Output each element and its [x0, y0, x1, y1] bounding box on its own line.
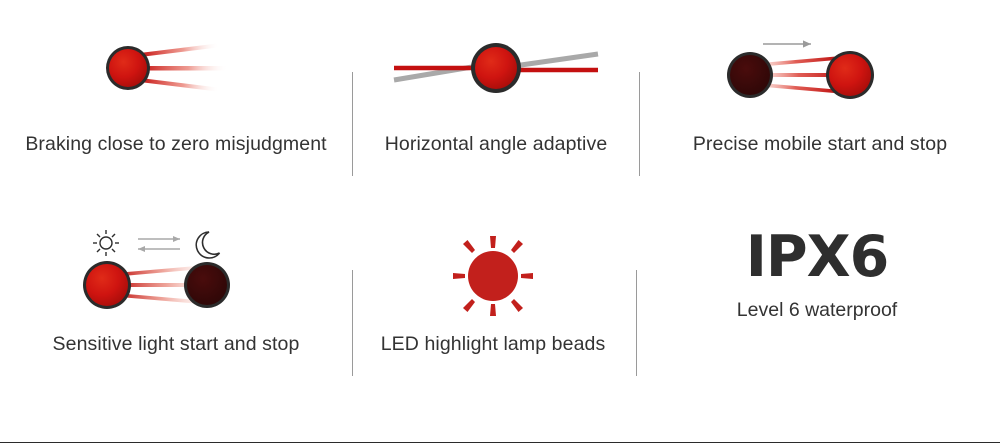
feature-card-mobile: Precise mobile start and stop — [640, 28, 1000, 188]
divider-row1-left — [352, 72, 353, 176]
day-night-sensor-icon — [0, 226, 352, 322]
divider-row2-right — [636, 270, 637, 376]
feature-card-led: LED highlight lamp beads — [352, 226, 634, 391]
feature-infographic: Braking close to zero misjudgment — [0, 0, 1000, 443]
feature-caption: Braking close to zero misjudgment — [25, 132, 326, 156]
feature-card-braking: Braking close to zero misjudgment — [0, 28, 352, 188]
divider-row1-right — [639, 72, 640, 176]
moon-icon — [196, 232, 219, 258]
feature-caption: LED highlight lamp beads — [381, 332, 606, 356]
sun-icon — [93, 230, 119, 256]
arrow-right-icon — [763, 40, 811, 47]
feature-caption: Level 6 waterproof — [737, 299, 897, 322]
exchange-arrows-icon — [138, 236, 180, 252]
divider-row2-left — [352, 270, 353, 376]
led-sun-burst-icon — [352, 226, 634, 322]
feature-caption: Horizontal angle adaptive — [385, 132, 608, 156]
horizontal-angle-icon — [352, 28, 640, 124]
feature-card-waterproof: IPX6 Level 6 waterproof — [634, 226, 1000, 391]
mobile-start-stop-icon — [640, 28, 1000, 124]
feature-row-1: Braking close to zero misjudgment — [0, 28, 1000, 188]
feature-row-2: Sensitive light start and stop — [0, 226, 1000, 391]
feature-card-light-sensor: Sensitive light start and stop — [0, 226, 352, 391]
ipx6-rating-text: IPX6 Level 6 waterproof — [634, 226, 1000, 322]
ipx6-title: IPX6 — [746, 227, 889, 287]
brake-light-motion-icon — [0, 28, 352, 124]
feature-caption: Sensitive light start and stop — [53, 332, 300, 356]
feature-caption: Precise mobile start and stop — [693, 132, 947, 156]
feature-card-horizontal: Horizontal angle adaptive — [352, 28, 640, 188]
